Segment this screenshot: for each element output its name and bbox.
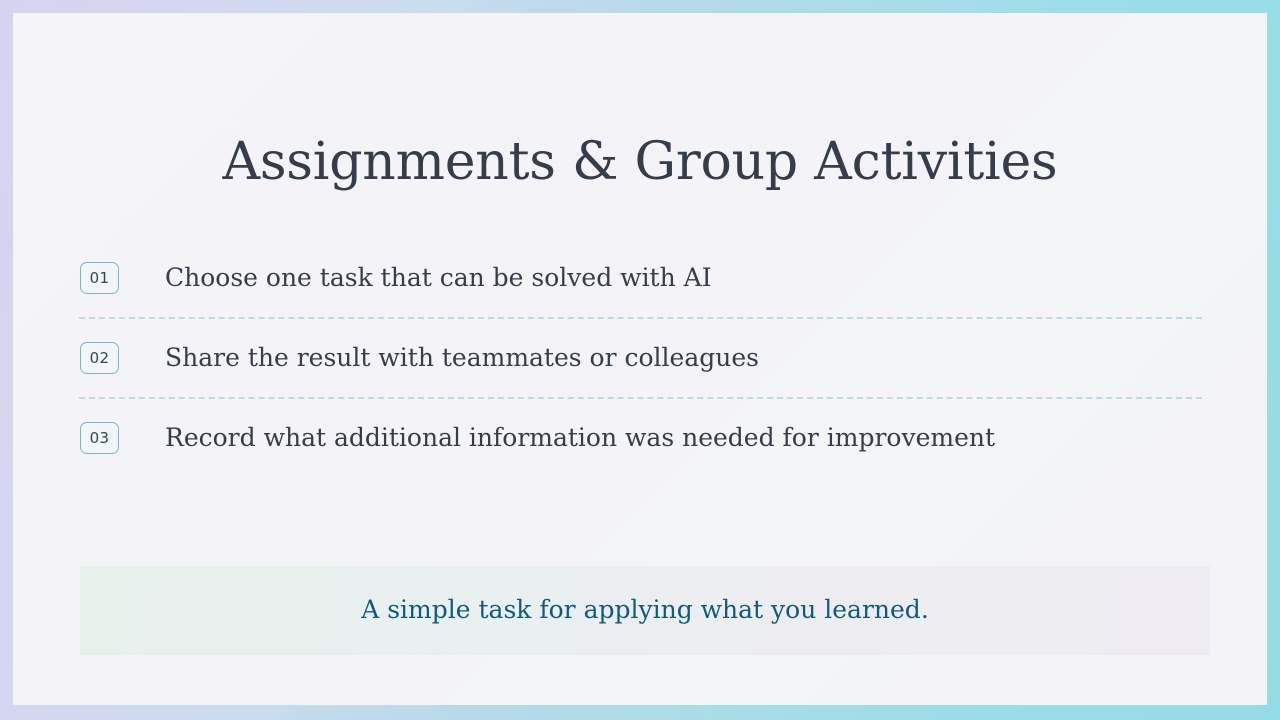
slide-canvas: Assignments & Group Activities 01 Choose… bbox=[13, 13, 1267, 705]
task-row[interactable]: 03 Record what additional information wa… bbox=[66, 399, 1215, 477]
task-label: Share the result with teammates or colle… bbox=[165, 342, 759, 373]
task-list: 01 Choose one task that can be solved wi… bbox=[66, 239, 1215, 477]
task-number-badge: 02 bbox=[80, 342, 119, 374]
summary-callout: A simple task for applying what you lear… bbox=[80, 566, 1210, 655]
page-title: Assignments & Group Activities bbox=[13, 134, 1267, 190]
task-row[interactable]: 01 Choose one task that can be solved wi… bbox=[66, 239, 1215, 317]
task-label: Choose one task that can be solved with … bbox=[165, 262, 712, 293]
summary-callout-text: A simple task for applying what you lear… bbox=[361, 594, 929, 627]
task-number-badge: 03 bbox=[80, 422, 119, 454]
task-number-badge: 01 bbox=[80, 262, 119, 294]
task-row[interactable]: 02 Share the result with teammates or co… bbox=[66, 319, 1215, 397]
task-label: Record what additional information was n… bbox=[165, 422, 995, 453]
slide-frame: Assignments & Group Activities 01 Choose… bbox=[0, 0, 1280, 720]
